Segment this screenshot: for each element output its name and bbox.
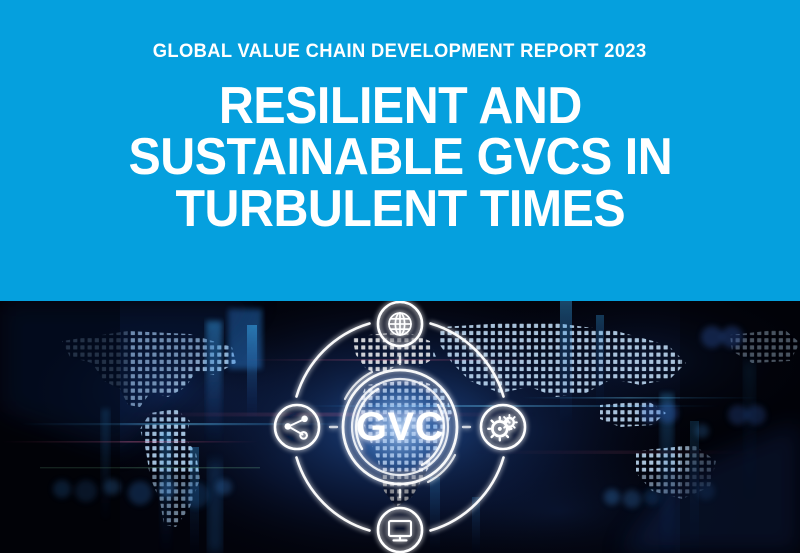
title-line-3: TURBULENT TIMES [128, 184, 672, 235]
title-line-1: RESILIENT AND [128, 81, 672, 132]
hub-node-globe [378, 302, 422, 346]
hub-center-label: GVC [356, 405, 444, 449]
title-line-2: SUSTAINABLE GVCS IN [128, 132, 672, 183]
report-series-eyebrow: GLOBAL VALUE CHAIN DEVELOPMENT REPORT 20… [153, 40, 647, 63]
title-band: GLOBAL VALUE CHAIN DEVELOPMENT REPORT 20… [0, 0, 800, 301]
page-title: RESILIENT AND SUSTAINABLE GVCS IN TURBUL… [108, 81, 693, 235]
hero-image: GVC [0, 301, 800, 553]
report-cover: GLOBAL VALUE CHAIN DEVELOPMENT REPORT 20… [0, 0, 800, 553]
globe-icon [389, 313, 411, 335]
hub-node-monitor [378, 508, 422, 552]
hub-node-gears [481, 405, 525, 449]
hub-node-network [275, 405, 319, 449]
gvc-hub-graphic: GVC [0, 301, 800, 553]
